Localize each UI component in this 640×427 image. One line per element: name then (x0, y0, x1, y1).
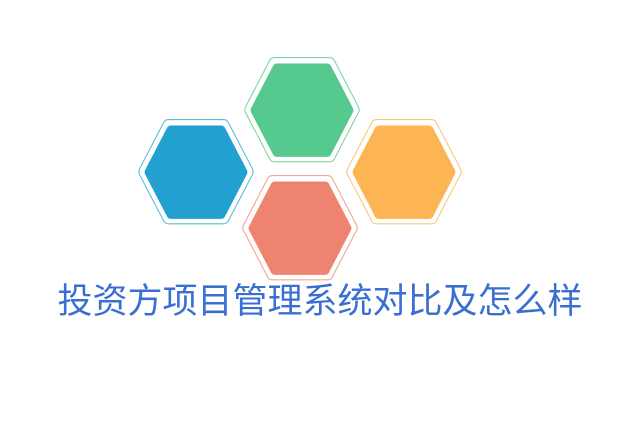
blue-hexagon (137, 118, 255, 226)
green-hexagon-fill (251, 64, 354, 157)
orange-hexagon (345, 118, 463, 226)
hexagon-cluster-graphic (0, 0, 640, 290)
salmon-hexagon (241, 174, 359, 282)
page-title: 投资方项目管理系统对比及怎么样 (0, 280, 640, 324)
green-hexagon (243, 56, 361, 164)
salmon-hexagon-fill (249, 182, 352, 275)
slide-canvas: 投资方项目管理系统对比及怎么样 (0, 0, 640, 427)
orange-hexagon-fill (353, 126, 456, 219)
blue-hexagon-fill (145, 126, 248, 219)
